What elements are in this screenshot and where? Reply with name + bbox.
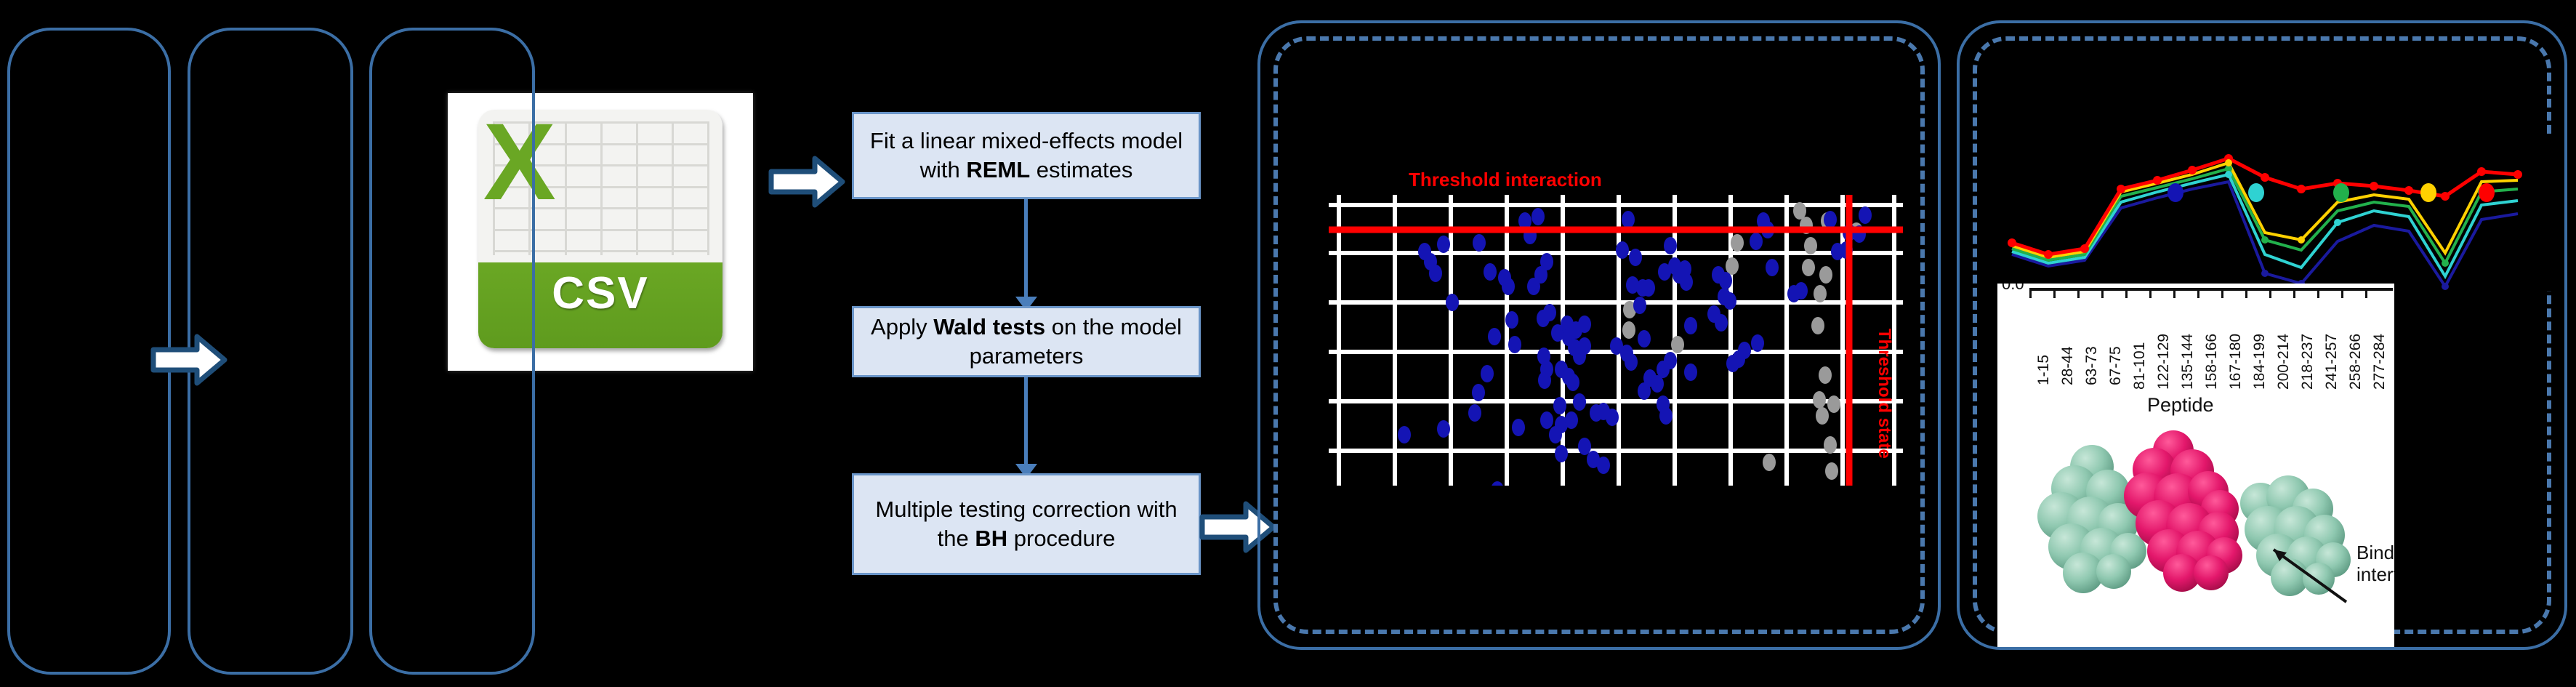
threshold-interaction-label: Threshold interaction <box>1409 169 1602 191</box>
legend-dot-yellow <box>2420 183 2436 202</box>
legend-dot-green2 <box>2479 183 2495 202</box>
x-tick-label: 158-166 <box>2203 334 2221 390</box>
x-tick-label: 1-15 <box>2035 355 2053 385</box>
x-tick-label: 241-257 <box>2323 334 2340 390</box>
x-tick-label: 277-284 <box>2371 334 2388 390</box>
legend-dot-blue <box>2168 183 2183 202</box>
x-axis-ticks <box>2029 288 2393 298</box>
x-tick-label: 81-101 <box>2131 342 2149 390</box>
x-tick-label: 167-180 <box>2227 334 2245 390</box>
binding-interface-line1: Binding <box>2356 542 2394 564</box>
x-tick-label: 135-144 <box>2179 334 2197 390</box>
x-tick-label: 28-44 <box>2059 346 2077 385</box>
step-wald-tests-text: Apply Wald tests on the model parameters <box>861 313 1191 371</box>
step-fit-model: Fit a linear mixed-effects model with RE… <box>852 112 1201 199</box>
x-tick-labels: 1-15 28-44 63-73 67-75 81-101 122-129 13… <box>2029 304 2393 391</box>
x-tick-label: 122-129 <box>2155 334 2173 390</box>
peptide-figure-card: 0.0 1-15 28-44 63-73 67-75 <box>1997 284 2394 647</box>
binding-interface-annotation: Binding interface <box>2356 542 2394 586</box>
step-fit-model-text: Fit a linear mixed-effects model with RE… <box>861 126 1191 185</box>
y-tick-label: 0.0 <box>2002 284 2024 294</box>
step-multiple-testing: Multiple testing correction with the BH … <box>852 473 1201 575</box>
connector-2 <box>1024 377 1028 470</box>
connector-1 <box>1024 199 1028 302</box>
protein-surface-render <box>2005 422 2390 611</box>
binding-interface-line2: interface <box>2356 564 2394 586</box>
step-multiple-testing-text: Multiple testing correction with the BH … <box>861 495 1191 554</box>
peptide-line-chart <box>1997 138 2556 291</box>
legend-dot-cyan <box>2248 183 2264 202</box>
threshold-state-label: Threshold state <box>1874 329 1894 459</box>
x-tick-label: 218-237 <box>2299 334 2317 390</box>
x-tick-label: 63-73 <box>2083 346 2101 385</box>
step-wald-tests: Apply Wald tests on the model parameters <box>852 306 1201 377</box>
volcano-scatter-plot <box>1329 195 1903 486</box>
panel-input-empty <box>7 28 171 675</box>
arrow-to-csv <box>149 331 229 389</box>
figure-canvas: X CSV Fit a linear mixed-effects model w… <box>0 0 2576 687</box>
panel-statistics <box>369 28 535 675</box>
x-tick-label: 258-266 <box>2347 334 2364 390</box>
x-axis-title: Peptide <box>2147 394 2214 417</box>
x-tick-label: 200-214 <box>2275 334 2293 390</box>
x-tick-label: 67-75 <box>2107 346 2125 385</box>
arrow-csv-to-stats <box>767 153 847 211</box>
x-tick-label: 184-199 <box>2251 334 2269 390</box>
legend-dot-green <box>2333 183 2349 202</box>
